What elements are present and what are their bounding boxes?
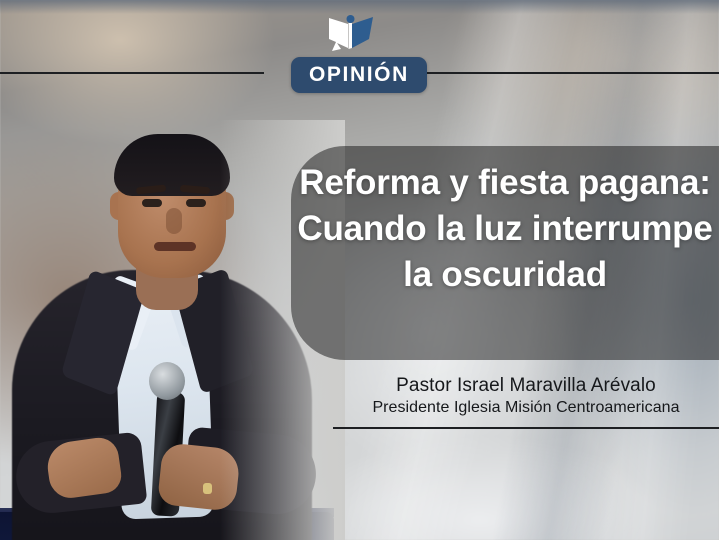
ring [203,483,212,494]
microphone-head [149,362,185,400]
byline-rule [333,427,719,429]
header-rule-right [426,72,719,74]
author-role: Presidente Iglesia Misión Centroamerican… [333,398,719,419]
eye-right [186,199,206,207]
nose [166,208,182,234]
mouth [154,242,196,251]
hair [114,134,230,196]
hand-right [157,442,241,512]
opinion-article-banner: OPINIÓN Reforma y fiesta pagana: Cuando … [0,0,719,540]
author-name: Pastor Israel Maravilla Arévalo [333,374,719,398]
eye-left [142,199,162,207]
header-rule-left [0,72,264,74]
dove-book-logo-icon [326,8,376,56]
section-badge[interactable]: OPINIÓN [291,57,427,93]
byline: Pastor Israel Maravilla Arévalo Presiden… [333,374,719,419]
article-headline: Reforma y fiesta pagana: Cuando la luz i… [296,160,714,299]
